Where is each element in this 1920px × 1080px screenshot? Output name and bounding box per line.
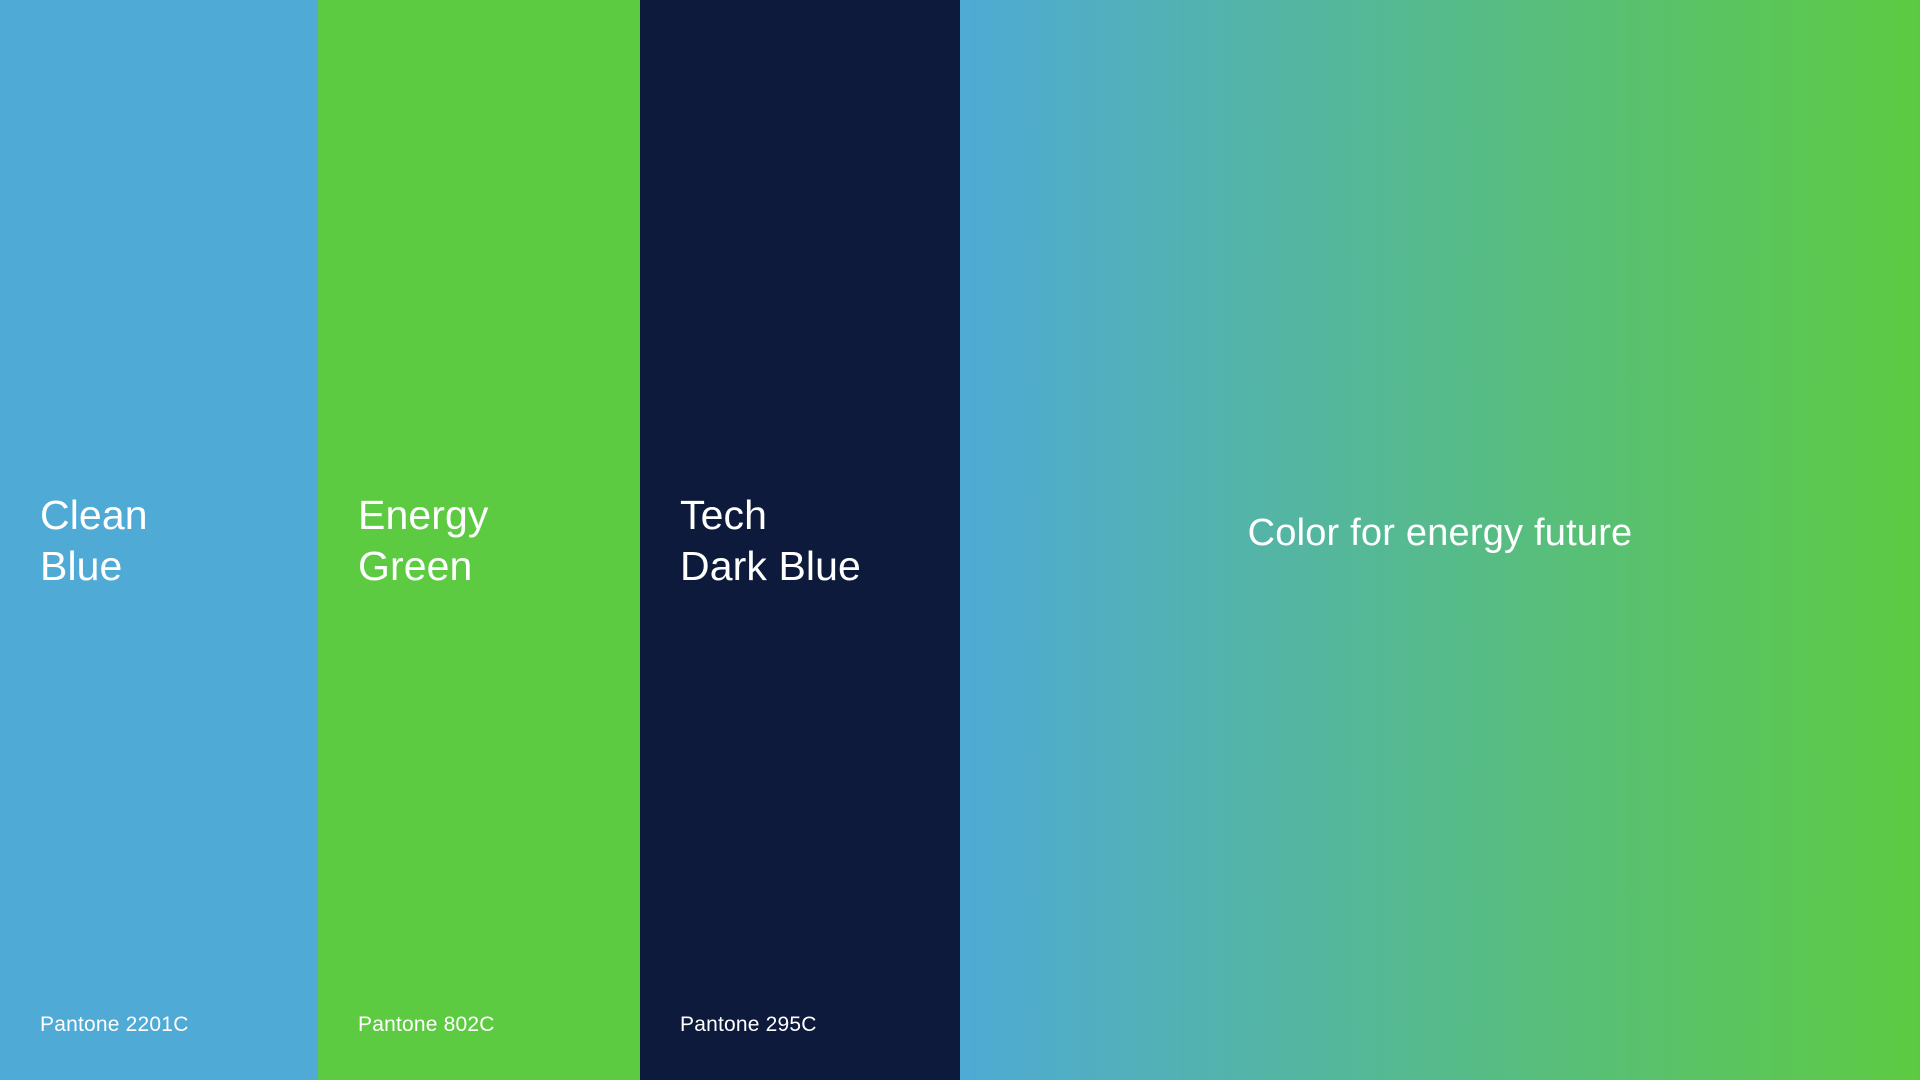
swatch-name-tech-dark-blue: Tech Dark Blue	[680, 490, 861, 592]
swatch-pantone-energy-green: Pantone 802C	[358, 1011, 495, 1039]
color-swatch-energy-green[interactable]: Energy Green Pantone 802C	[318, 0, 640, 1080]
gradient-panel-tagline: Color for energy future	[1248, 509, 1633, 557]
swatch-pantone-tech-dark-blue: Pantone 295C	[680, 1011, 817, 1039]
color-swatch-clean-blue[interactable]: Clean Blue Pantone 2201C	[0, 0, 318, 1080]
swatch-name-energy-green: Energy Green	[358, 490, 489, 592]
color-palette-board: Clean Blue Pantone 2201C Energy Green Pa…	[0, 0, 1920, 1080]
swatch-pantone-clean-blue: Pantone 2201C	[40, 1011, 189, 1039]
color-swatch-tech-dark-blue[interactable]: Tech Dark Blue Pantone 295C	[640, 0, 960, 1080]
gradient-panel[interactable]: Color for energy future	[960, 0, 1920, 1080]
swatch-name-clean-blue: Clean Blue	[40, 490, 148, 592]
